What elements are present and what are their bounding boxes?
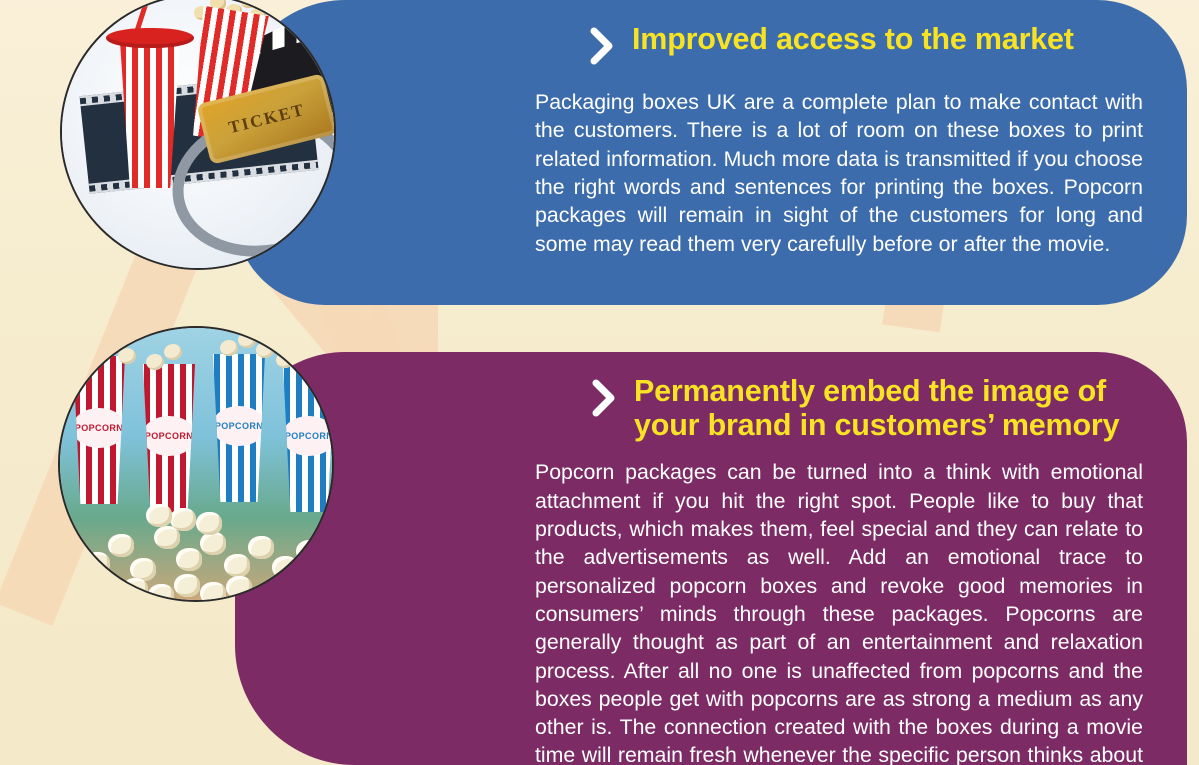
ticket-label: TICKET — [227, 100, 308, 138]
chevron-right-icon — [590, 378, 618, 418]
blue-card-headline: Improved access to the market — [632, 22, 1074, 56]
popcorn-box-oval: POPCORN — [142, 416, 196, 456]
popcorn-box-label: POPCORN — [215, 421, 263, 431]
purple-card-heading-row: Permanently embed the image of your bran… — [590, 374, 1143, 442]
blue-card-heading-row: Improved access to the market — [588, 22, 1143, 66]
popcorn-box-oval: POPCORN — [72, 408, 126, 448]
soda-cup-lid-icon — [106, 28, 194, 48]
chevron-right-icon — [588, 26, 616, 66]
popcorn-boxes-photo: POPCORN POPCORN POPCORN POPCORN — [58, 326, 334, 602]
popcorn-box-oval: POPCORN — [212, 406, 266, 446]
purple-card-body: Popcorn packages can be turned into a th… — [535, 458, 1143, 765]
popcorn-box-label: POPCORN — [75, 423, 123, 433]
blue-card-body: Packaging boxes UK are a complete plan t… — [535, 88, 1143, 258]
popcorn-box-oval: POPCORN — [282, 416, 334, 456]
card-embed-brand-image: Permanently embed the image of your bran… — [235, 352, 1187, 765]
popcorn-scene: POPCORN POPCORN POPCORN POPCORN — [60, 328, 332, 600]
purple-card-headline: Permanently embed the image of your bran… — [634, 374, 1143, 442]
popcorn-box-label: POPCORN — [285, 431, 333, 441]
cinema-snacks-photo: TICKET — [60, 0, 336, 270]
popcorn-pile — [58, 474, 334, 602]
cinema-scene: TICKET — [62, 0, 334, 268]
popcorn-box-label: POPCORN — [145, 431, 193, 441]
infographic-canvas: Improved access to the market Packaging … — [0, 0, 1199, 765]
card-improved-access: Improved access to the market Packaging … — [235, 0, 1187, 305]
